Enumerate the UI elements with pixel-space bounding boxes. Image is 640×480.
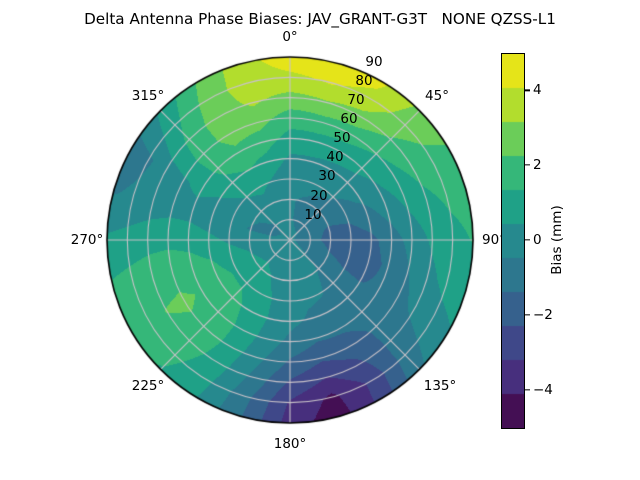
colorbar-tick-mark-1 bbox=[525, 165, 530, 166]
colorbar-tick-label-1: 2 bbox=[533, 157, 542, 173]
angular-tick-135: 135° bbox=[424, 378, 457, 394]
angular-tick-180: 180° bbox=[274, 436, 307, 452]
colorbar-tick-mark-3 bbox=[525, 314, 530, 315]
angular-tick-315: 315° bbox=[132, 88, 165, 104]
colorbar-tick-mark-4 bbox=[525, 389, 530, 390]
colorbar-tick-mark-2 bbox=[525, 239, 530, 240]
colorbar-tick-label-2: 0 bbox=[533, 232, 542, 248]
angular-tick-45: 45° bbox=[425, 88, 449, 104]
radial-tick-10: 10 bbox=[304, 207, 321, 223]
colorbar bbox=[501, 53, 523, 427]
colorbar-axis-label: Bias (mm) bbox=[549, 205, 565, 274]
radial-tick-30: 30 bbox=[318, 168, 335, 184]
radial-tick-80: 80 bbox=[355, 73, 372, 89]
radial-tick-70: 70 bbox=[347, 92, 364, 108]
radial-tick-20: 20 bbox=[310, 188, 327, 204]
radial-tick-40: 40 bbox=[326, 149, 343, 165]
colorbar-tick-label-4: −4 bbox=[533, 382, 553, 398]
figure-canvas: Delta Antenna Phase Biases: JAV_GRANT-G3… bbox=[0, 0, 640, 480]
radial-tick-50: 50 bbox=[333, 130, 350, 146]
angular-tick-0: 0° bbox=[282, 29, 297, 45]
colorbar-tick-label-0: 4 bbox=[533, 82, 542, 98]
colorbar-tick-mark-0 bbox=[525, 90, 530, 91]
radial-tick-60: 60 bbox=[340, 111, 357, 127]
colorbar-tick-label-3: −2 bbox=[533, 307, 553, 323]
radial-tick-90: 90 bbox=[365, 54, 382, 70]
angular-tick-270: 270° bbox=[71, 232, 104, 248]
colorbar-gradient bbox=[501, 53, 525, 429]
angular-tick-225: 225° bbox=[132, 378, 165, 394]
